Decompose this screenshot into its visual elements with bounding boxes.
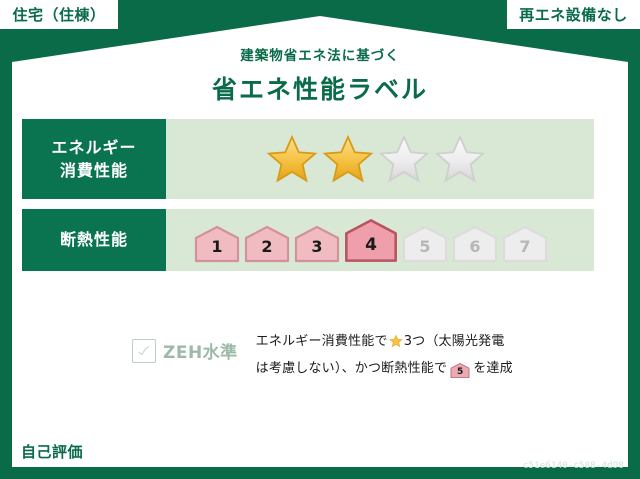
insulation-performance-row: 断熱性能 1234567 bbox=[22, 209, 594, 271]
star-filled-icon bbox=[264, 132, 320, 186]
zeh-checkbox-icon bbox=[132, 339, 156, 363]
footer: 自己評価 神奈川県秦野市平沢 評価日 2024年10月10日 c51e6140-… bbox=[0, 429, 640, 479]
insulation-level-active: 1 bbox=[194, 225, 240, 263]
insulation-level-active: 4 bbox=[344, 218, 398, 263]
energy-label-line1: エネルギー bbox=[51, 136, 136, 159]
zeh-description-line1: エネルギー消費性能で3つ（太陽光発電 bbox=[256, 330, 513, 357]
energy-performance-label: 住宅（住棟） 再エネ設備なし 建築物省エネ法に基づく 省エネ性能ラベル エネルギ… bbox=[0, 0, 640, 479]
insulation-level-value: 2 bbox=[261, 237, 272, 263]
zeh-block: ZEH水準 エネルギー消費性能で3つ（太陽光発電 は考慮しない）、かつ断熱性能で… bbox=[22, 330, 594, 381]
title-subtitle: 建築物省エネ法に基づく bbox=[0, 44, 640, 64]
star-rating bbox=[264, 132, 488, 186]
energy-performance-row: エネルギー 消費性能 bbox=[22, 119, 594, 199]
evaluation-id: c51e6140-c588-4d98 bbox=[523, 461, 624, 471]
insulation-level-value: 1 bbox=[211, 237, 222, 263]
insulation-level-inactive: 6 bbox=[452, 225, 498, 263]
insulation-level-value: 6 bbox=[469, 237, 480, 263]
zeh-desc-text-1: エネルギー消費性能で bbox=[256, 334, 388, 349]
zeh-mark: ZEH水準 bbox=[132, 338, 238, 363]
self-evaluation: 自己評価 神奈川県秦野市平沢 bbox=[14, 438, 228, 465]
zeh-description: エネルギー消費性能で3つ（太陽光発電 は考慮しない）、かつ断熱性能で5を達成 bbox=[256, 330, 513, 381]
building-type-tag: 住宅（住棟） bbox=[0, 0, 118, 29]
inline-badge-value: 5 bbox=[450, 363, 470, 382]
zeh-desc-text-3: は考慮しない）、かつ断熱性能で bbox=[256, 361, 448, 376]
star-filled-icon bbox=[320, 132, 376, 186]
insulation-level-active: 2 bbox=[244, 225, 290, 263]
energy-label-line2: 消費性能 bbox=[60, 159, 128, 182]
renewable-energy-tag: 再エネ設備なし bbox=[507, 0, 640, 29]
energy-performance-value bbox=[166, 119, 594, 199]
zeh-label: ZEH水準 bbox=[163, 338, 238, 363]
zeh-description-line2: は考慮しない）、かつ断熱性能で5を達成 bbox=[256, 357, 513, 381]
zeh-desc-text-2: 3つ（太陽光発電 bbox=[404, 334, 505, 349]
insulation-level-inactive: 7 bbox=[502, 225, 548, 263]
insulation-level-value: 4 bbox=[365, 235, 377, 263]
zeh-desc-text-4: を達成 bbox=[473, 361, 513, 376]
self-evaluation-badge: 自己評価 bbox=[14, 438, 90, 465]
insulation-level-active: 3 bbox=[294, 225, 340, 263]
star-empty-icon bbox=[376, 132, 432, 186]
inline-star-icon bbox=[389, 333, 403, 357]
property-address: 神奈川県秦野市平沢 bbox=[99, 442, 228, 462]
performance-rows: エネルギー 消費性能 断熱性能 1234567 bbox=[22, 119, 594, 281]
inline-insulation-badge: 5 bbox=[450, 363, 470, 378]
page-title: 省エネ性能ラベル bbox=[0, 70, 640, 106]
star-empty-icon bbox=[432, 132, 488, 186]
insulation-level-inactive: 5 bbox=[402, 225, 448, 263]
insulation-performance-label: 断熱性能 bbox=[22, 209, 166, 271]
energy-performance-label: エネルギー 消費性能 bbox=[22, 119, 166, 199]
title-block: 建築物省エネ法に基づく 省エネ性能ラベル bbox=[0, 44, 640, 106]
insulation-level-value: 7 bbox=[519, 237, 530, 263]
insulation-performance-value: 1234567 bbox=[166, 209, 594, 271]
insulation-level-value: 5 bbox=[419, 237, 430, 263]
evaluation-date: 評価日 2024年10月10日 bbox=[460, 435, 624, 455]
insulation-level-value: 3 bbox=[311, 237, 322, 263]
insulation-level-scale: 1234567 bbox=[194, 218, 548, 263]
